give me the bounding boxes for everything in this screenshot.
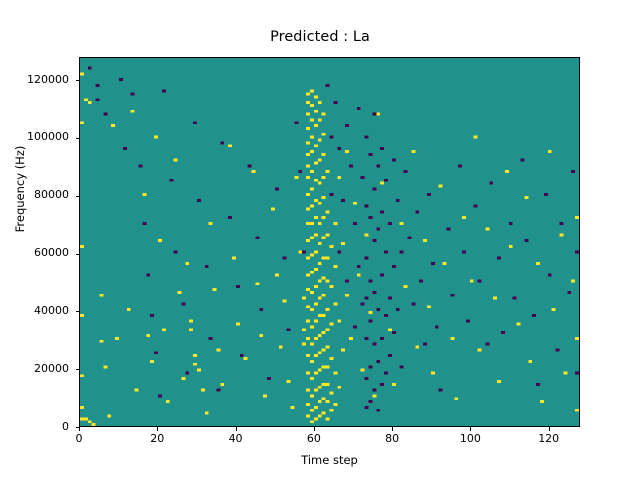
y-tick-label: 20000 <box>0 362 69 375</box>
x-tick-label: 20 <box>127 432 187 445</box>
y-tick-label: 60000 <box>0 246 69 259</box>
y-tick-label: 0 <box>0 420 69 433</box>
y-tick-label: 100000 <box>0 130 69 143</box>
x-tick-label: 120 <box>519 432 579 445</box>
x-tick-label: 40 <box>206 432 266 445</box>
x-tick-label: 100 <box>440 432 500 445</box>
y-axis-label: Frequency (Hz) <box>13 99 27 279</box>
spectrogram-heatmap <box>80 58 579 426</box>
y-tick-label: 120000 <box>0 73 69 86</box>
chart-title: Predicted : La <box>0 29 640 45</box>
heatmap-axes <box>79 57 580 427</box>
x-tick-mark <box>157 427 158 431</box>
y-tick-mark <box>76 254 80 255</box>
y-tick-mark <box>76 369 80 370</box>
x-tick-label: 60 <box>284 432 344 445</box>
x-tick-mark <box>392 427 393 431</box>
figure: Predicted : La 020406080100120 020000400… <box>0 0 640 480</box>
y-tick-mark <box>76 196 80 197</box>
x-tick-mark <box>549 427 550 431</box>
x-tick-mark <box>314 427 315 431</box>
x-tick-mark <box>470 427 471 431</box>
x-axis-label: Time step <box>79 453 580 467</box>
y-tick-mark <box>76 311 80 312</box>
x-tick-label: 80 <box>362 432 422 445</box>
y-tick-label: 40000 <box>0 304 69 317</box>
x-tick-mark <box>79 427 80 431</box>
y-tick-mark <box>76 138 80 139</box>
x-tick-label: 0 <box>49 432 109 445</box>
x-tick-mark <box>236 427 237 431</box>
y-tick-label: 80000 <box>0 188 69 201</box>
y-tick-mark <box>76 80 80 81</box>
y-tick-mark <box>76 427 80 428</box>
